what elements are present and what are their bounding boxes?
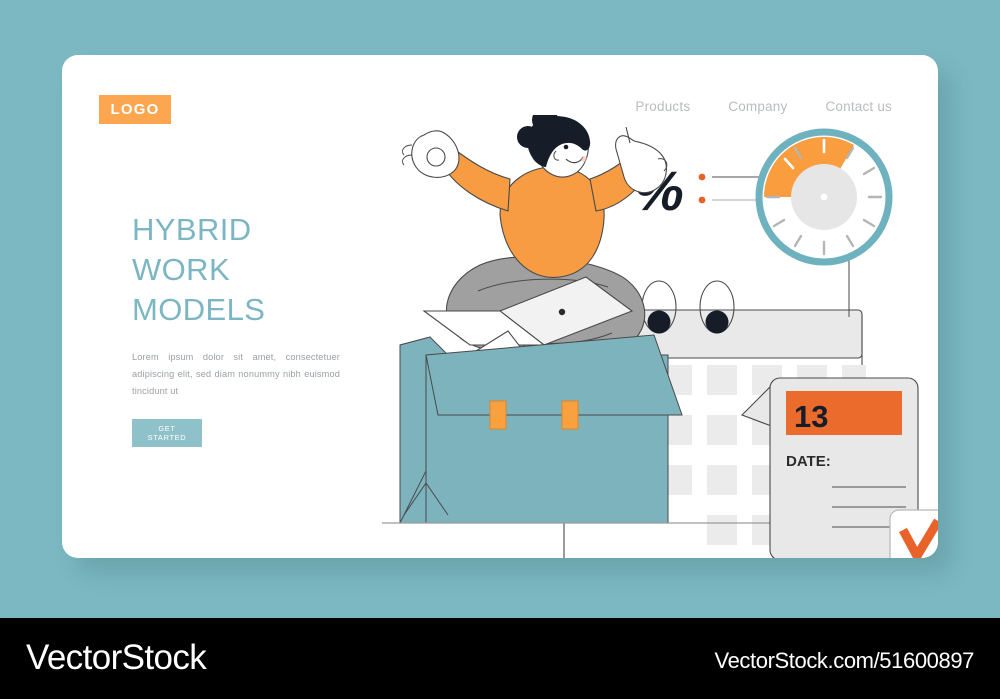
screenshot-root: LOGO Products Company Contact us HYBRID … <box>0 0 1000 699</box>
main-navigation: Products Company Contact us <box>635 99 892 114</box>
hero-section: HYBRID WORK MODELS Lorem ipsum dolor sit… <box>132 210 412 447</box>
get-started-button[interactable]: GET STARTED <box>132 419 202 447</box>
hero-title-line-1: HYBRID <box>132 212 252 247</box>
nav-item-contact-us[interactable]: Contact us <box>825 99 892 114</box>
logo-label: LOGO <box>111 101 160 118</box>
clock-pie-chart <box>759 132 889 262</box>
landing-page-card: LOGO Products Company Contact us HYBRID … <box>62 55 938 558</box>
watermark-brand: VectorStock <box>26 638 206 678</box>
hero-title: HYBRID WORK MODELS <box>132 210 412 330</box>
nav-item-products[interactable]: Products <box>635 99 690 114</box>
hero-illustration: % <box>382 115 938 558</box>
briefcase-illustration <box>400 335 682 523</box>
hero-body-text: Lorem ipsum dolor sit amet, consectetuer… <box>132 349 340 400</box>
check-box-illustration <box>890 510 938 558</box>
note-day-number: 13 <box>794 399 828 434</box>
note-date-label: DATE: <box>786 453 831 470</box>
hero-title-line-2: WORK <box>132 252 230 287</box>
hero-title-line-3: MODELS <box>132 292 265 327</box>
watermark-url: VectorStock.com/51600897 <box>715 648 974 674</box>
logo-badge[interactable]: LOGO <box>99 95 171 124</box>
nav-item-company[interactable]: Company <box>728 99 787 114</box>
watermark-bar: VectorStock VectorStock.com/51600897 <box>0 618 1000 699</box>
